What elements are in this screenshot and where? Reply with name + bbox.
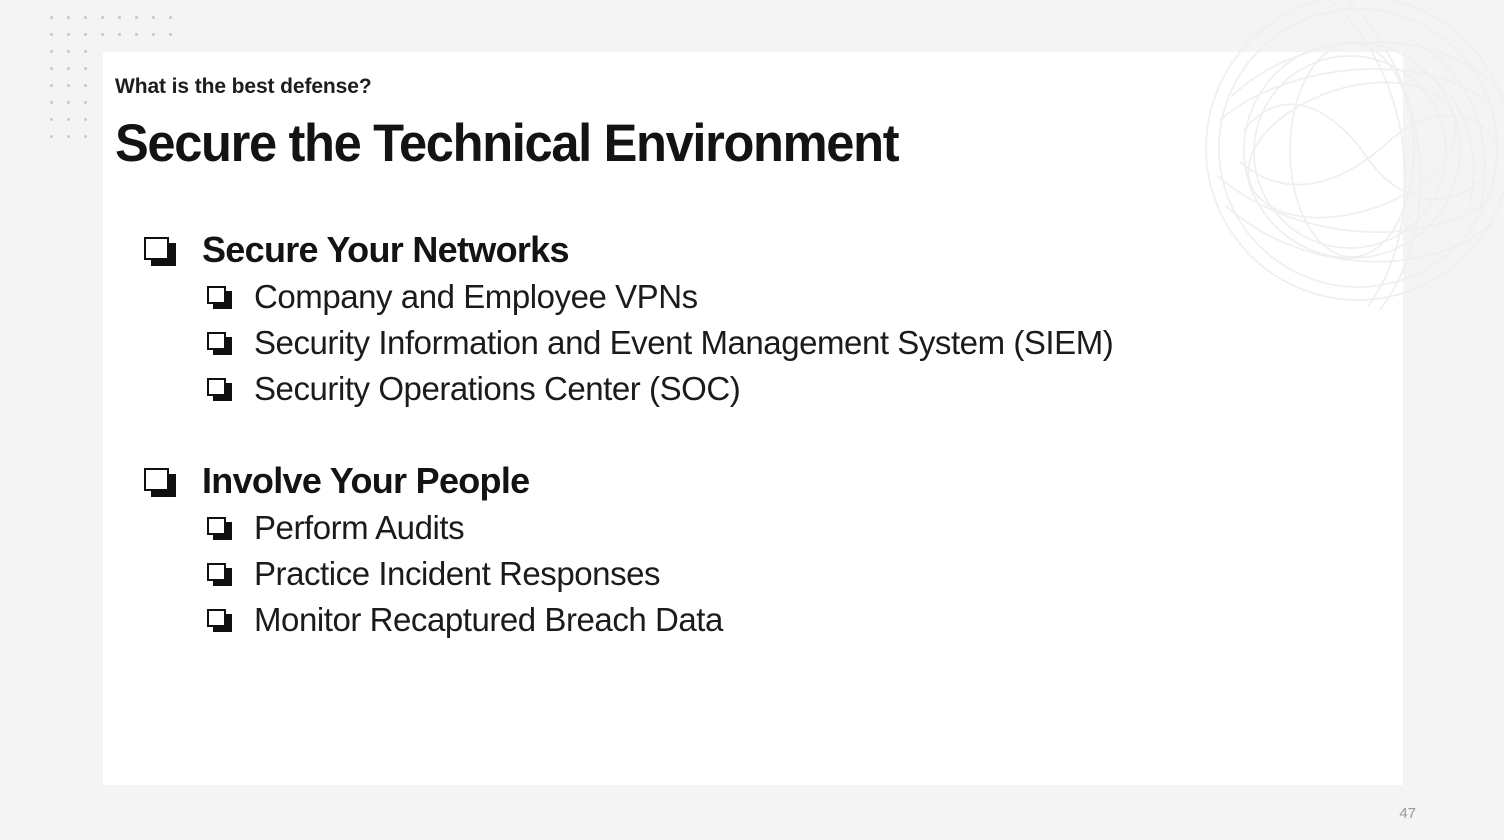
bullet-group: Secure Your Networks Company and Employe… — [115, 228, 1395, 413]
bullet-list: Secure Your Networks Company and Employe… — [115, 228, 1395, 644]
shadowed-box-bullet-icon — [144, 468, 178, 498]
bullet-group-header: Secure Your Networks — [115, 228, 1395, 272]
sub-bullet-item: Practice Incident Responses — [115, 552, 1395, 598]
bullet-group: Involve Your People Perform Audits Pract… — [115, 459, 1395, 644]
shadowed-box-bullet-icon — [144, 237, 178, 267]
slide-card: What is the best defense? Secure the Tec… — [103, 52, 1403, 785]
sub-bullet-item: Security Operations Center (SOC) — [115, 367, 1395, 413]
bullet-group-header: Involve Your People — [115, 459, 1395, 503]
sub-bullet-item: Security Information and Event Managemen… — [115, 321, 1395, 367]
shadowed-box-bullet-icon — [207, 332, 233, 356]
slide-header: What is the best defense? Secure the Tec… — [115, 74, 935, 172]
sub-bullet-list: Company and Employee VPNs Security Infor… — [115, 275, 1395, 413]
sub-bullet-label: Monitor Recaptured Breach Data — [254, 598, 723, 642]
sub-bullet-label: Perform Audits — [254, 506, 464, 550]
sub-bullet-label: Security Operations Center (SOC) — [254, 367, 740, 411]
shadowed-box-bullet-icon — [207, 378, 233, 402]
shadowed-box-bullet-icon — [207, 286, 233, 310]
sub-bullet-label: Company and Employee VPNs — [254, 275, 698, 319]
page-title: Secure the Technical Environment — [115, 116, 898, 172]
bullet-group-label: Secure Your Networks — [202, 228, 569, 272]
page-number: 47 — [1399, 805, 1416, 822]
sub-bullet-item: Perform Audits — [115, 506, 1395, 552]
shadowed-box-bullet-icon — [207, 517, 233, 541]
bullet-group-label: Involve Your People — [202, 459, 529, 503]
sub-bullet-label: Security Information and Event Managemen… — [254, 321, 1113, 365]
shadowed-box-bullet-icon — [207, 609, 233, 633]
shadowed-box-bullet-icon — [207, 563, 233, 587]
slide-eyebrow: What is the best defense? — [115, 74, 935, 99]
sub-bullet-list: Perform Audits Practice Incident Respons… — [115, 506, 1395, 644]
sub-bullet-label: Practice Incident Responses — [254, 552, 660, 596]
sub-bullet-item: Company and Employee VPNs — [115, 275, 1395, 321]
sub-bullet-item: Monitor Recaptured Breach Data — [115, 598, 1395, 644]
